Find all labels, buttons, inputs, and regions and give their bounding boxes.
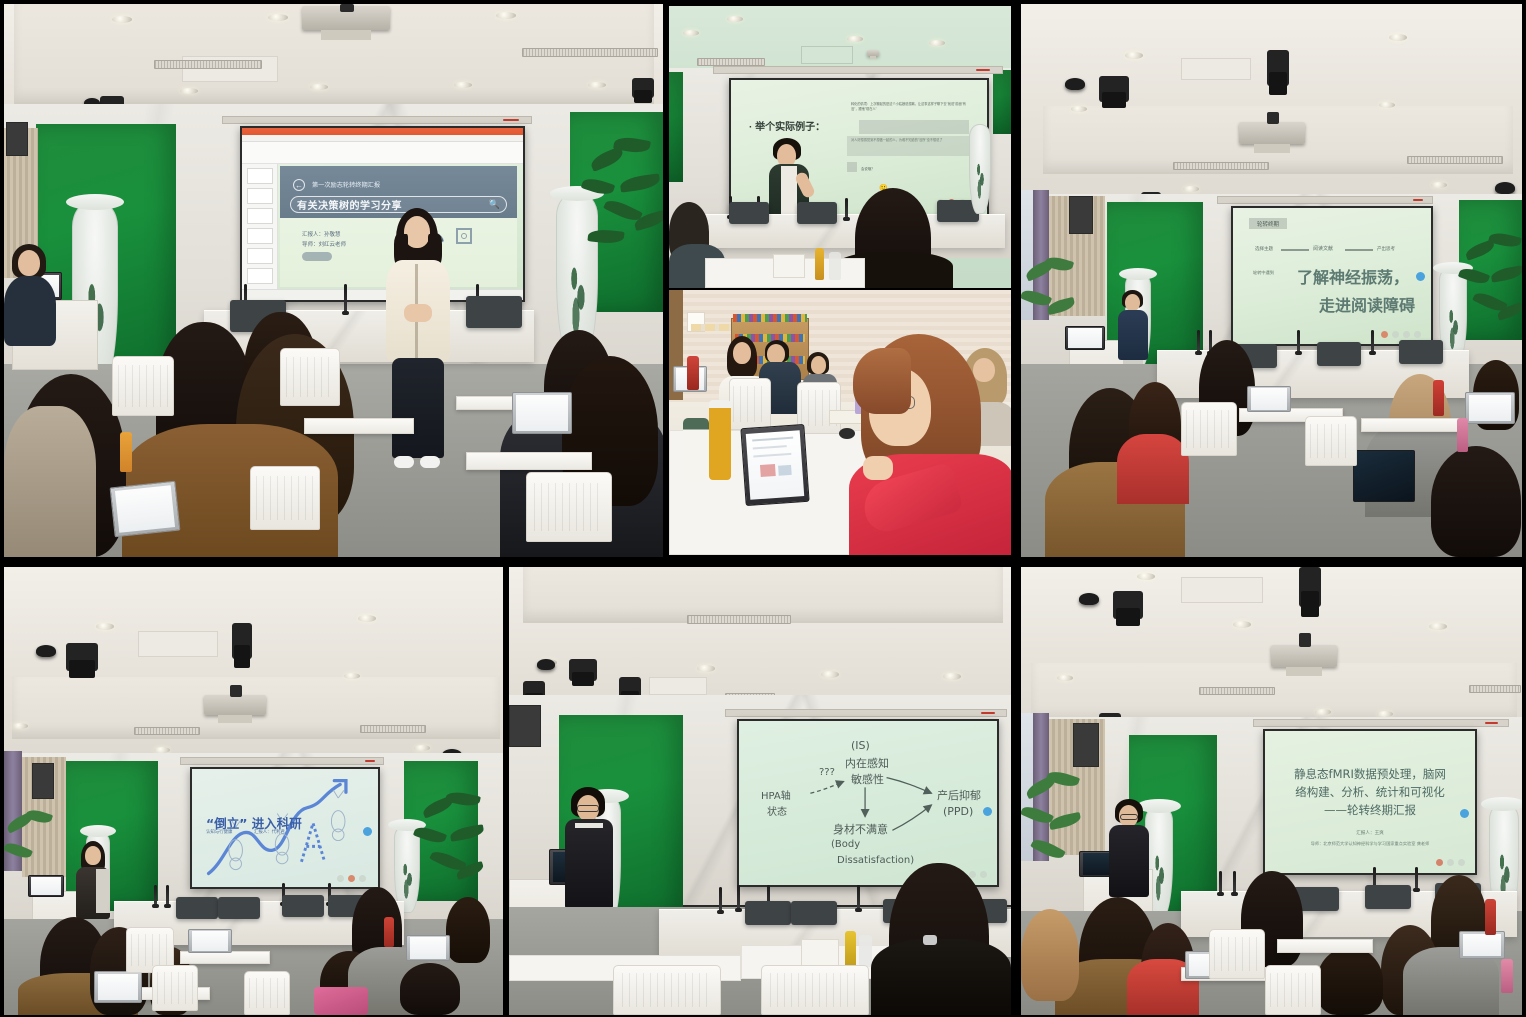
projection-screen-frame: 轮转终期 选择主题 阅读文献 产出思考 轮转中遇到 了解神经振荡， 走进阅读障碍 [1231,206,1433,346]
eyeglasses [577,805,599,812]
search-icon[interactable]: 🔍 [489,199,500,210]
projection-screen-rail [1217,196,1433,204]
downlight-3 [12,723,28,729]
seated-person-left-far [4,244,56,354]
toolbar-dot[interactable] [337,875,344,882]
desk-microphone-2 [166,885,169,905]
downlight-3 [1429,623,1447,630]
podium-laptop[interactable] [1065,326,1105,350]
ceiling-vent-right [360,725,426,733]
student-desk-3 [466,452,592,470]
projection-screen-frame: (IS) 内在感知 敏感性 ??? HPA轴 状态 身材不满意 (Body Di… [737,719,999,887]
white-chair-1 [613,965,721,1015]
projection-screen-rail [713,66,1003,74]
toolbar-dot[interactable] [359,875,366,882]
desk-microphone-1 [1219,871,1222,893]
wall-speaker [1069,196,1093,234]
toolbar-dot[interactable] [980,871,987,878]
audience-shoulder-beige [4,406,96,557]
projection-screen-surface: 轮转终期 选择主题 阅读文献 产出思考 轮转中遇到 了解神经振荡， 走进阅读障碍 [1233,208,1431,344]
lecture-room-scene-2: · 举个实际例子： 转化的情境：上次聊起的是这个小姑娘说想离，让这事这样子聊下去… [669,6,1011,288]
slide-subtitle-right: 汇报人：代利君 [254,829,285,835]
slide-title-line-2: 走进阅读障碍 [1319,292,1415,316]
panel-bottom-left[interactable]: “倒立” 进入科研 认知与行健康 汇报人：代利君 [4,567,503,1015]
projector-mount [1299,633,1311,647]
ceiling-vent-right [1469,685,1521,693]
panel-bottom-right[interactable]: 静息态fMRI数据预处理，脑网 络构建、分析、统计和可视化 ——轮转终期汇报 汇… [1021,567,1522,1015]
dome-camera-1 [36,645,56,657]
fmri-title-slide: 静息态fMRI数据预处理，脑网 络构建、分析、统计和可视化 ——轮转终期汇报 汇… [1265,731,1475,873]
ceiling-access-hatch [801,46,853,64]
wall-speaker [32,763,54,799]
conference-chair-3 [1399,340,1443,364]
downlight-3 [821,671,839,678]
dome-camera-1 [537,659,555,670]
toolbar-dot[interactable] [1403,331,1410,338]
student-laptop-2[interactable] [1459,931,1505,959]
slide-reporter: 汇报人：王爽 [1265,831,1475,837]
slide-thumbnail[interactable] [247,248,273,264]
node-hpa-label: HPA轴 [761,787,791,802]
desk-microphone-2 [737,885,740,909]
ceiling-access-hatch [1181,58,1251,80]
projection-screen-rail [180,757,384,765]
screen-toolbar[interactable] [1381,331,1421,338]
white-chair-2 [1305,416,1357,466]
ceiling-access-hatch [649,677,707,695]
ptz-camera-2 [232,623,252,659]
potted-plant-left [1021,773,1087,909]
wall-speaker [1073,723,1099,767]
downlight-2 [268,14,288,21]
projector-mount [340,4,354,12]
toolbar-dot[interactable] [1392,331,1399,338]
audience-head-6 [446,897,490,963]
slide-thumbnail[interactable] [247,188,273,204]
tissue-box [773,254,805,278]
desk-microphone-4 [1371,330,1374,352]
podium-laptop[interactable] [28,875,64,897]
downlight-2 [1233,621,1251,628]
downlight-5 [1315,709,1331,715]
green-wall-right [993,70,1011,134]
chat-avatar [847,162,857,172]
white-chair-1 [1181,402,1237,456]
water-bottle-red [384,917,394,947]
lecture-room-scene-6: 静息态fMRI数据预处理，脑网 络构建、分析、统计和可视化 ——轮转终期汇报 汇… [1021,567,1522,1015]
slide-thumbnail[interactable] [247,228,273,244]
desk-microphone-4 [1415,867,1418,889]
ppt-ribbon [242,128,523,135]
projector-mount [1267,112,1279,124]
frame-icon [456,228,472,244]
hand [863,456,893,480]
vase-mouth-left [80,825,116,837]
ceiling [1021,4,1522,204]
slide-start-button[interactable] [302,252,332,261]
presenter-standing [382,208,456,508]
student-laptop-1[interactable] [188,929,232,953]
student-desk-1 [1277,939,1373,953]
research-intro-slide: “倒立” 进入科研 认知与行健康 汇报人：代利君 [192,769,378,887]
water-bottle-red [1485,899,1496,935]
drink-cup [859,935,872,967]
downlight-3 [1071,106,1087,112]
potted-plant-right [580,132,663,292]
ceiling-projector [867,50,879,56]
slide-note-1: 转化的情境：上次聊起的是这个小姑娘说想离，让这事这样子聊下去"就说"前面"有没"… [851,102,971,112]
panel-bottom-center[interactable]: (IS) 内在感知 敏感性 ??? HPA轴 状态 身材不满意 (Body Di… [509,567,1011,1015]
downlight-5 [310,84,328,90]
student-laptop-2[interactable] [1465,392,1515,424]
ptz-camera-1 [1113,591,1143,619]
node-body-sub: (Body [831,839,860,850]
panel-top-center[interactable]: · 举个实际例子： 转化的情境：上次聊起的是这个小姑娘说想离，让这事这样子聊下去… [669,6,1011,288]
ceiling-vent-right [522,48,658,57]
node-ppd-label: 产后抑郁 [937,787,981,803]
white-chair-3 [526,472,612,542]
dome-camera-1 [1065,78,1085,90]
desk-microphone-1 [719,887,722,911]
downlight-2 [727,16,743,22]
annotation-dot [983,807,992,816]
water-bottle-pink [1457,418,1468,452]
ceiling-vent-left [1173,162,1269,170]
slide-title-line-2: 络构建、分析、统计和可视化 [1265,785,1475,801]
study-room-scene [669,290,1011,555]
node-is-sub2: 敏感性 [851,771,884,787]
projection-screen-surface: 静息态fMRI数据预处理，脑网 络构建、分析、统计和可视化 ——轮转终期汇报 汇… [1265,731,1475,873]
node-is-label: (IS) [851,739,870,752]
panel-center-inset[interactable] [669,290,1011,555]
student-tablet[interactable] [110,481,181,538]
projection-screen-rail [222,116,532,124]
projection-screen-frame: “倒立” 进入科研 认知与行健康 汇报人：代利君 [190,767,380,889]
juice-bottle [845,931,856,967]
juice-bottle [815,248,824,280]
ceiling-vent-right [1407,156,1503,164]
downlight-1 [1137,573,1155,580]
conference-chair-1 [729,202,769,224]
projection-screen-frame: 静息态fMRI数据预处理，脑网 络构建、分析、统计和可视化 ——轮转终期汇报 汇… [1263,729,1477,875]
student-laptop-3[interactable] [406,935,450,961]
chat-bubble-1 [859,120,969,134]
porcelain-vase [969,124,991,214]
projection-screen-surface: “倒立” 进入科研 认知与行健康 汇报人：代利君 [192,769,378,887]
audience-head-7 [1317,947,1383,1015]
slide-reporter: 汇报人：孙敬慧 [302,230,341,238]
downlight-4 [180,88,198,94]
water-bottle-red [1433,380,1444,416]
lecture-room-scene-5: (IS) 内在感知 敏感性 ??? HPA轴 状态 身材不满意 (Body Di… [509,567,1011,1015]
slide-bullet: · 举个实际例子： [749,118,825,133]
eyeglasses [1120,814,1138,820]
red-thermos [687,356,699,390]
ceiling-access-hatch [1181,577,1263,603]
desk-microphone-2 [344,284,347,312]
annotation-dot [1416,272,1425,281]
slide-title-line-1: 了解神经振荡， [1297,264,1409,288]
node-ppd-sub: (PPD) [943,805,973,818]
downlight-3 [496,12,516,19]
conference-chair-2 [218,897,260,919]
dome-camera-1 [1079,593,1099,605]
conference-chair-1 [176,897,218,919]
downlight-7 [588,82,606,88]
slide-title-line-1: 静息态fMRI数据预处理，脑网 [1265,767,1475,783]
downlight-5 [1183,186,1199,192]
ceiling-vent-left [1199,687,1275,695]
water-bottle-pink [1501,959,1513,993]
slide-thumbnail[interactable] [247,268,273,284]
vase-mouth-left [1119,268,1157,280]
slide-title-line-3: ——轮转终期汇报 [1265,803,1475,819]
downlight-1 [112,16,132,23]
ptz-camera-1 [569,659,597,681]
whiteboard-surface: (IS) 内在感知 敏感性 ??? HPA轴 状态 身材不满意 (Body Di… [739,721,997,885]
downlight-4 [344,673,360,679]
downlight-4 [1379,102,1395,108]
desk-microphone-1 [1197,330,1200,352]
green-wall-left [669,72,683,182]
foreground-woman-red-hoodie [849,334,1011,555]
presenter-standing [1109,799,1149,907]
slide-badge: 轮转终期 [1249,218,1287,229]
student-laptop[interactable] [512,392,572,434]
desk-microphone-1 [154,885,157,905]
conference-chair-2 [1317,342,1361,366]
audience-head-7 [400,963,460,1015]
toy-row-top [733,314,807,322]
annotation-dot [1460,809,1469,818]
white-thermos [683,418,709,482]
toolbar-dot[interactable] [1436,859,1443,866]
lecture-room-scene-4: “倒立” 进入科研 认知与行健康 汇报人：代利君 [4,567,503,1015]
audience-head-5 [1431,446,1521,557]
flow-step-2: 阅读文献 [1313,245,1333,252]
projection-screen-rail [1253,719,1509,727]
white-chair-1 [112,356,174,416]
orange-juice-bottle [709,400,731,480]
ceiling-projector [204,695,266,715]
screen-toolbar[interactable] [1436,859,1465,866]
ceiling-vent-left [134,727,200,735]
flow-step-1: 选择主题 [1255,246,1273,252]
lecture-room-scene: ← 第一次励志轮转终期汇报 有关决策树的学习分享 🔍 汇报人：孙敬慧 导师：刘红… [4,4,663,557]
ptz-camera-1 [1099,76,1129,102]
projector-mount [230,685,242,697]
downlight-6 [1431,182,1447,188]
ceiling-projector [1239,122,1305,144]
downlight-6 [454,82,472,88]
audience-shoulder-red [1117,434,1189,504]
ceiling-projector [1271,645,1337,667]
white-chair-2 [280,348,340,406]
presenter-standing [565,787,613,927]
conference-chair-2 [466,296,522,328]
desk-microphone-4 [857,885,860,909]
white-chair-2 [152,965,198,1011]
ppt-toolbar [242,142,523,164]
toolbar-dot[interactable] [1381,331,1388,338]
downlight-4 [929,40,945,46]
photo-collage: ← 第一次励志轮转终期汇报 有关决策树的学习分享 🔍 汇报人：孙敬慧 导师：刘红… [0,0,1526,1017]
juice-bottle [120,432,132,472]
downlight-6 [414,745,430,751]
ppt-slide-thumbnail-pane[interactable] [242,164,278,289]
dome-camera-2 [1495,182,1515,194]
downlight-1 [1125,52,1143,59]
flow-connector-1 [1281,249,1309,251]
student-laptop-1[interactable] [1247,386,1291,412]
hair-clip [923,935,937,945]
audience-shoulder-black [871,939,1011,1015]
slide-advisor: 导师：北京师范大学认知神经科学与学习国家重点实验室 龚老师 [1265,841,1475,847]
slide-side-note: 轮转中遇到 [1253,270,1274,276]
toolbar-dot[interactable] [1447,859,1454,866]
student-laptop-2[interactable] [94,971,142,1003]
ceiling-vent-left [154,60,262,69]
neural-oscillation-slide: 轮转终期 选择主题 阅读文献 产出思考 轮转中遇到 了解神经振荡， 走进阅读障碍 [1233,208,1431,344]
ppt-tab-bar [242,135,523,142]
ceiling-vent [697,58,765,66]
phone-pink-case[interactable] [314,987,368,1015]
chat-bubble-2 [847,136,973,156]
white-chair-2 [1265,965,1321,1015]
downlight-3 [847,36,863,42]
back-arrow-icon[interactable]: ← [293,179,305,191]
node-hpa-sub: 状态 [767,803,787,818]
white-chair-2 [761,965,869,1015]
white-chair-3 [244,971,290,1015]
mesh-chair-1 [729,378,771,430]
wall-speaker [6,122,28,156]
downlight-4 [1057,675,1073,681]
white-chair-4 [250,466,320,530]
slide-note-3: 会说哦？ [861,166,875,171]
ptz-camera-2 [1267,50,1289,86]
downlight-1 [96,623,114,630]
drink-cup [829,252,841,280]
student-desk-2 [1361,418,1461,432]
downlight-2 [358,615,376,622]
lecture-room-scene-3: 轮转终期 选择主题 阅读文献 产出思考 轮转中遇到 了解神经振荡， 走进阅读障碍 [1021,4,1522,557]
downlight-2 [697,665,715,672]
desk-microphone-3 [845,198,848,218]
panel-top-left[interactable]: ← 第一次励志轮转终期汇报 有关决策树的学习分享 🔍 汇报人：孙敬慧 导师：刘红… [4,4,663,557]
conference-chair-2 [797,202,837,224]
desk-microphone-3 [1297,330,1300,352]
downlight-2 [1389,34,1407,41]
slide-eyebrow: 第一次励志轮转终期汇报 [312,180,380,189]
conference-chair-3 [282,895,324,917]
toolbar-dot[interactable] [1414,331,1421,338]
conference-chair-2 [1365,885,1411,909]
projection-screen-rail [725,709,1007,717]
ptz-camera-1 [66,643,98,671]
flow-step-3: 产出思考 [1377,246,1395,252]
potted-plant-right [1459,230,1522,370]
question-marks: ??? [819,767,835,778]
student-laptop-3[interactable] [1353,450,1415,502]
annotation-dot [363,827,372,836]
downlight-4 [943,673,961,680]
slide-advisor: 导师：刘红云老师 [302,240,346,248]
desk-microphone-2 [1233,871,1236,893]
wall-speaker [509,705,541,747]
slide-thumbnail[interactable] [247,208,273,224]
node-body-sub2: Dissatisfaction) [837,855,914,866]
ptz-camera-right [632,78,654,98]
slide-thumbnail[interactable] [247,168,273,184]
toolbar-dot[interactable] [1458,859,1465,866]
slide-subtitle-left: 认知与行健康 [206,829,232,835]
audience-head-3 [1021,909,1079,1001]
downlight-1 [683,30,699,36]
flow-connector-2 [1345,249,1373,251]
conference-chair-1 [745,901,791,925]
ceiling-access-hatch [138,631,218,657]
vase-mouth-right [1481,797,1522,811]
screen-toolbar[interactable] [337,875,366,882]
ptz-camera-2 [1299,567,1321,607]
node-body-label: 身材不满意 [833,821,888,837]
conference-chair-2 [791,901,837,925]
panel-top-right[interactable]: 轮转终期 选择主题 阅读文献 产出思考 轮转中遇到 了解神经振荡， 走进阅读障碍 [1021,4,1522,557]
handwritten-model-diagram: (IS) 内在感知 敏感性 ??? HPA轴 状态 身材不满意 (Body Di… [739,721,997,885]
tablet-on-stand[interactable] [740,424,809,506]
node-is-sub: 内在感知 [845,755,889,771]
student-desk-1 [304,418,414,434]
ceiling-vent-top [687,615,791,624]
vase-mouth-left [66,194,124,210]
toolbar-dot[interactable] [348,875,355,882]
white-chair-1 [1209,929,1265,979]
